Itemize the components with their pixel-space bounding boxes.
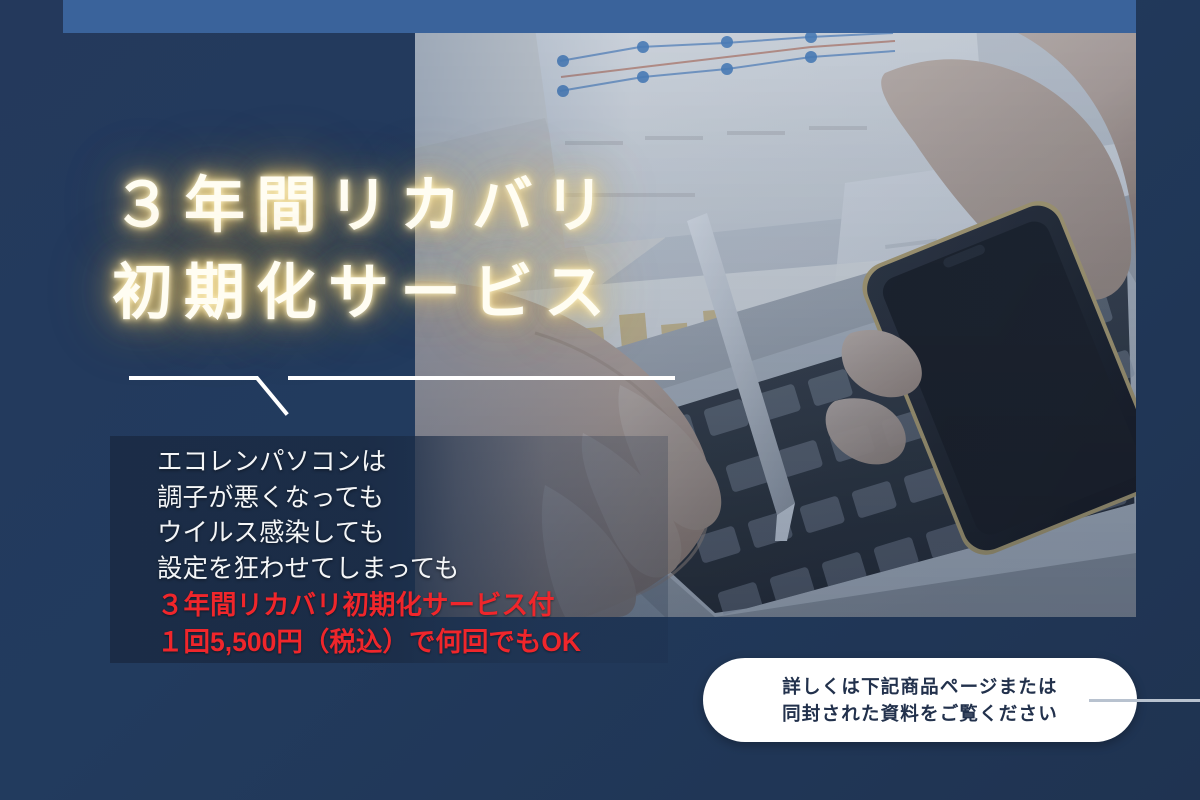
callout-pill[interactable]: 詳しくは下記商品ページまたは 同封された資料をご覧ください bbox=[703, 658, 1137, 742]
callout-trailing-rule bbox=[1089, 699, 1200, 702]
copy-line-1: エコレンパソコンは bbox=[157, 445, 581, 481]
copy-panel-text: エコレンパソコンは 調子が悪くなっても ウイルス感染しても 設定を狂わせてしまっ… bbox=[157, 445, 581, 660]
banner-canvas: ３年間リカバリ 初期化サービス エコレンパソコンは 調子が悪くなっても ウイルス… bbox=[0, 0, 1200, 800]
copy-line-2: 調子が悪くなっても bbox=[157, 481, 581, 517]
top-accent-band bbox=[63, 0, 1136, 33]
copy-line-3: ウイルス感染しても bbox=[157, 516, 581, 552]
copy-panel: エコレンパソコンは 調子が悪くなっても ウイルス感染しても 設定を狂わせてしまっ… bbox=[110, 436, 668, 663]
callout-line-1: 詳しくは下記商品ページまたは bbox=[782, 673, 1057, 700]
copy-line-4: 設定を狂わせてしまっても bbox=[157, 552, 581, 588]
callout-line-2: 同封された資料をご覧ください bbox=[782, 700, 1058, 727]
copy-line-5-highlight: ３年間リカバリ初期化サービス付 bbox=[157, 587, 581, 624]
copy-line-6-price: １回5,500円（税込）で何回でもOK bbox=[157, 624, 581, 661]
